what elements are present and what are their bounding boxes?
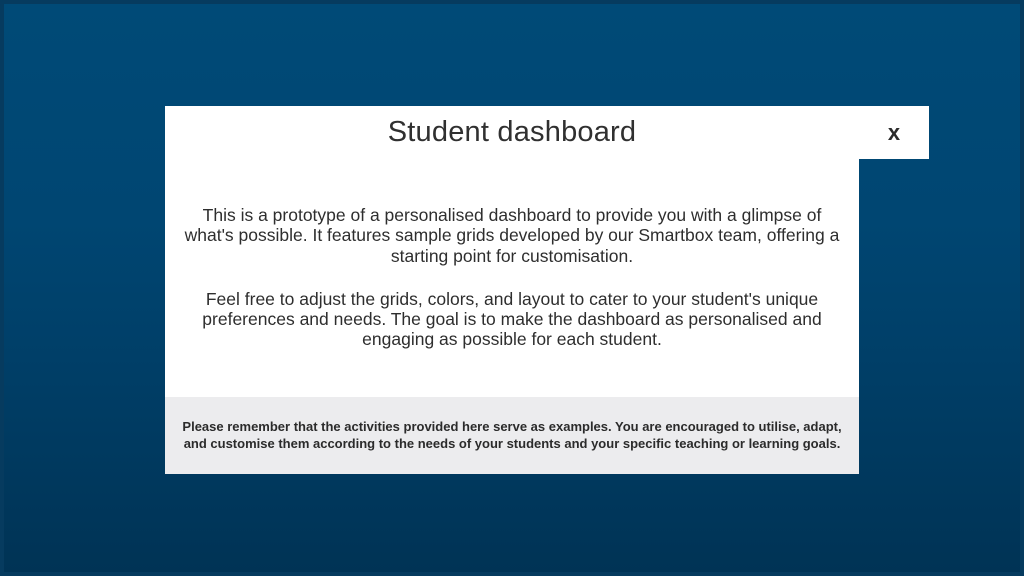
- student-dashboard-dialog: Student dashboard x This is a prototype …: [165, 106, 929, 474]
- intro-paragraph: This is a prototype of a personalised da…: [176, 205, 848, 266]
- dialog-content: This is a prototype of a personalised da…: [165, 159, 859, 397]
- footer-note: Please remember that the activities prov…: [175, 419, 849, 451]
- dialog-body: This is a prototype of a personalised da…: [165, 159, 859, 474]
- app-background: Student dashboard x This is a prototype …: [0, 0, 1024, 576]
- dialog-footer: Please remember that the activities prov…: [165, 397, 859, 474]
- dialog-header: Student dashboard x: [165, 106, 929, 159]
- close-icon: x: [888, 122, 900, 144]
- dialog-title: Student dashboard: [165, 106, 859, 159]
- close-button[interactable]: x: [859, 106, 929, 159]
- customisation-paragraph: Feel free to adjust the grids, colors, a…: [176, 289, 848, 350]
